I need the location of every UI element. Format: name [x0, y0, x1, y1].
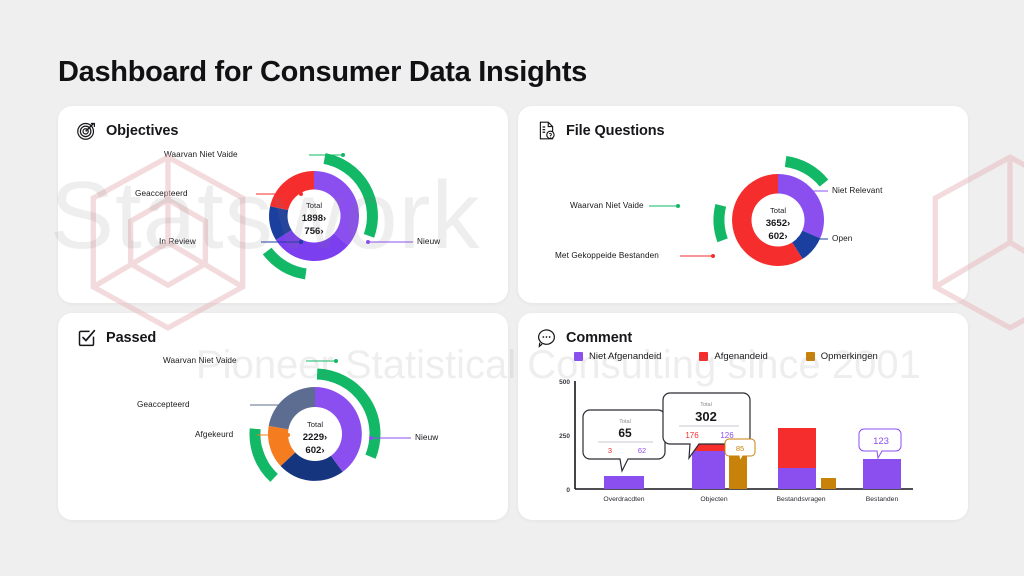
objectives-label-3: Nieuw — [417, 237, 440, 246]
passed-label-0: Waarvan Niet Vaide — [163, 356, 237, 365]
passed-label-3: Nieuw — [415, 433, 438, 442]
objectives-label-0: Waarvan Niet Vaide — [164, 150, 238, 159]
passed-label-1: Geaccepteerd — [137, 400, 190, 409]
badge-85-value: 85 — [736, 444, 744, 453]
badge-bestanden-123[interactable]: 123 — [859, 429, 901, 458]
dashboard-root: Statswork Pioneer Statistical Consulting… — [0, 0, 1024, 576]
files-label-1: Open — [832, 234, 852, 243]
callout-0-red: 3 — [608, 446, 612, 455]
files-label-0: Niet Relevant — [832, 186, 882, 195]
cat-label-0: Overdracdten — [603, 496, 644, 503]
badge-123-value: 123 — [873, 436, 889, 447]
y-tick-250: 250 — [559, 433, 570, 440]
bar-bestanden-niet[interactable] — [863, 459, 901, 489]
card-file-questions: File Questions Total 3652› 602› — [518, 106, 968, 303]
bar-bestandsvragen-afgenandeid[interactable] — [778, 428, 816, 468]
cat-label-1: Objecten — [700, 496, 727, 503]
bar-objecten-opmerkingen[interactable] — [729, 456, 747, 489]
callout-1-total: 302 — [695, 409, 717, 424]
bar-overdracdten-niet[interactable] — [604, 476, 644, 489]
card-passed: Passed Total 2229› 602› — [58, 313, 508, 520]
card-objectives: Objectives Total 1898› 756› Total 1898› — [58, 106, 508, 303]
callout-0-total-label: Total — [619, 419, 631, 425]
callout-1-red: 176 — [685, 431, 699, 440]
page-title: Dashboard for Consumer Data Insights — [58, 56, 587, 89]
y-tick-500: 500 — [559, 379, 570, 386]
card-comment: Comment Niet Afgenandeid Afgenandeid Opm… — [518, 313, 968, 520]
bar-objecten-niet[interactable] — [692, 451, 725, 489]
cat-label-3: Bestanden — [866, 496, 899, 503]
passed-label-2: Afgekeurd — [195, 430, 233, 439]
bar-bestandsvragen-niet[interactable] — [778, 468, 816, 489]
objectives-leader-lines — [58, 106, 508, 303]
files-label-3: Met Gekoppeide Bestanden — [555, 251, 659, 260]
callout-1-total-label: Total — [700, 402, 712, 408]
passed-leader-lines — [58, 313, 508, 520]
objectives-label-2: In Review — [159, 237, 196, 246]
comment-bar-chart: 500 250 0 Overdracdten Objecten Bestands… — [518, 313, 968, 520]
passed-donut-chart: Total 2229› 602› Waarvan Niet Vaide Geac… — [58, 313, 508, 520]
cat-label-2: Bestandsvragen — [776, 496, 825, 503]
files-donut-chart: Total 3652› 602› Niet Relevant Open Waar… — [518, 106, 968, 303]
bar-bestandsvragen-opmerkingen[interactable] — [821, 478, 836, 489]
callout-0-purple: 62 — [638, 446, 646, 455]
objectives-donut-chart: Total 1898› 756› Total 1898› 756› Waarv — [58, 106, 508, 303]
callout-0-total: 65 — [618, 426, 632, 440]
files-label-2: Waarvan Niet Vaide — [570, 201, 644, 210]
y-tick-0: 0 — [566, 487, 570, 494]
callout-overdracdten[interactable]: Total 65 3 62 — [583, 410, 665, 471]
objectives-label-1: Geaccepteerd — [135, 189, 188, 198]
